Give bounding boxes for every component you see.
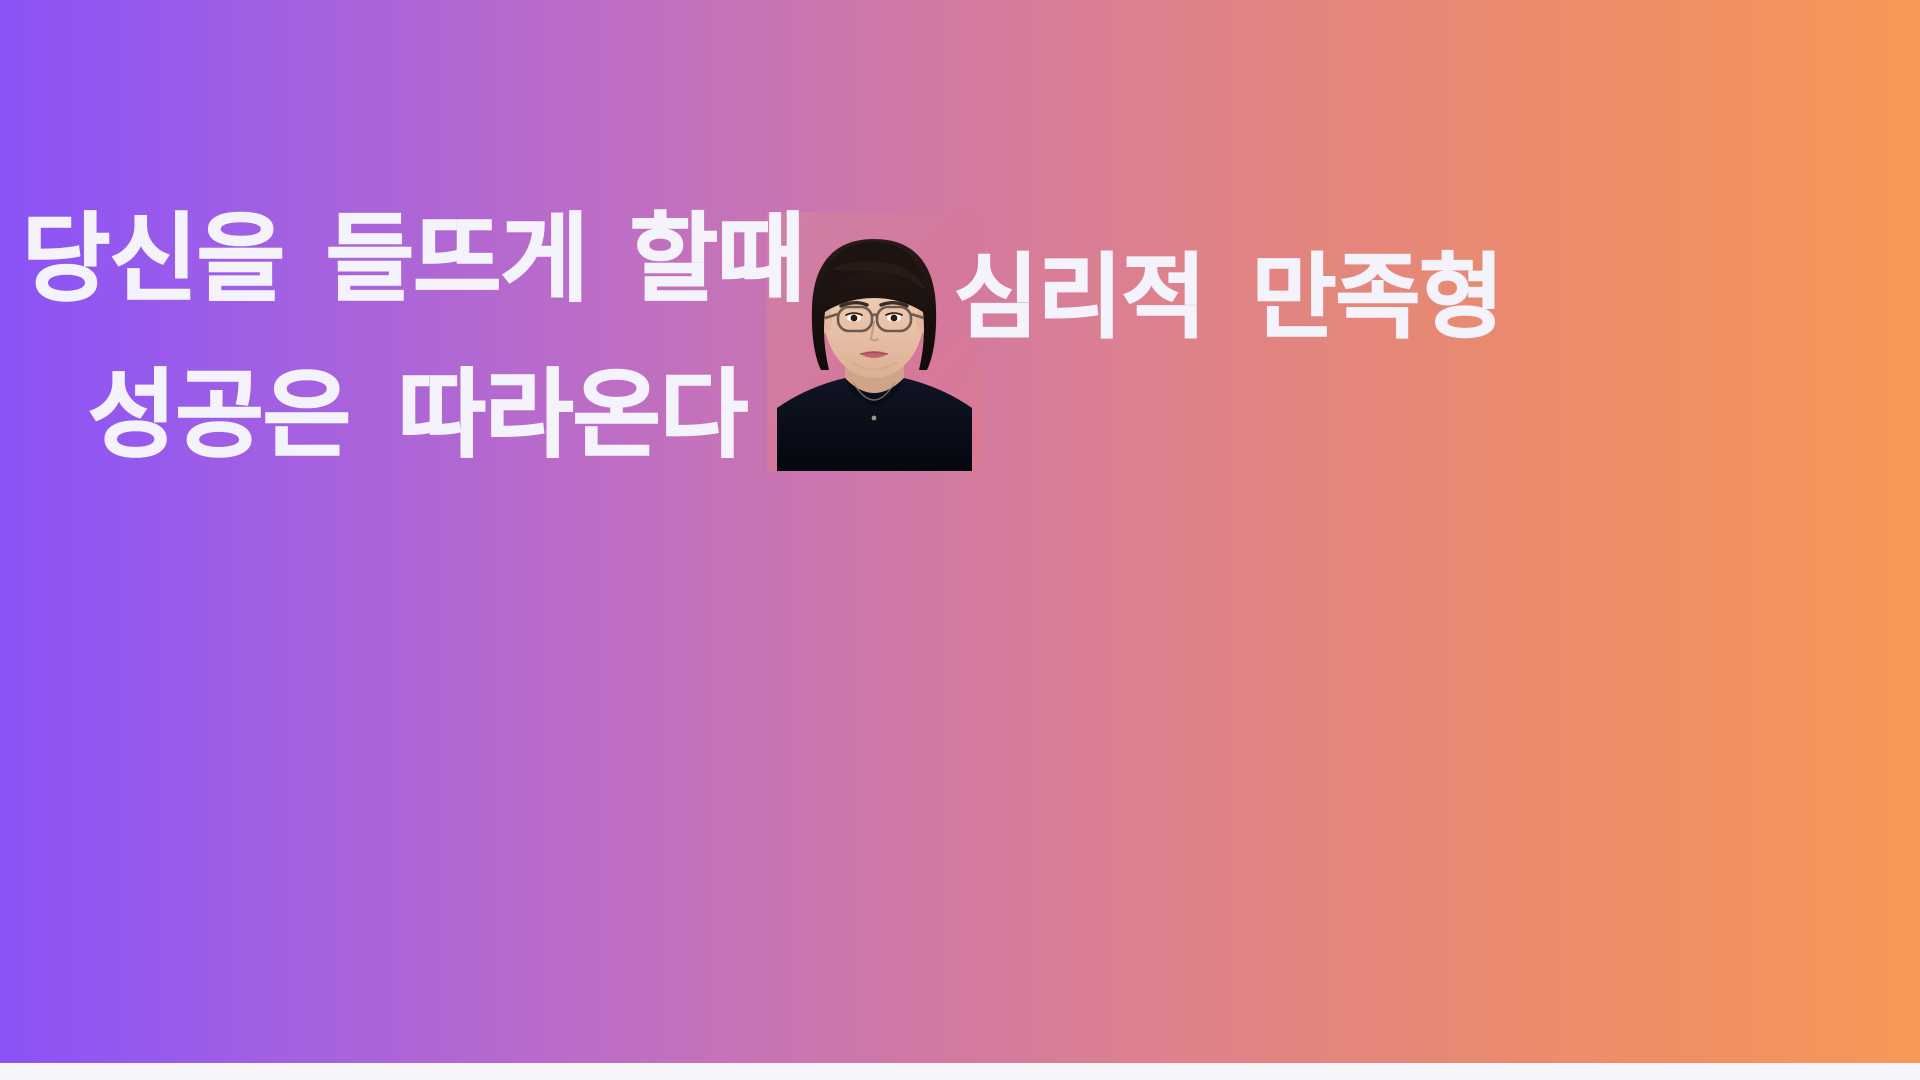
slide-canvas: 당신을 들뜨게 할때 성공은 따라온다 심리적 만족형 xyxy=(0,0,1920,1080)
gradient-background xyxy=(0,0,1920,1063)
headline-left-line1: 당신을 들뜨게 할때 xyxy=(22,212,804,308)
bottom-strip xyxy=(0,1063,1920,1080)
headline-left-line2: 성공은 따라온다 xyxy=(88,368,747,464)
headline-right: 심리적 만족형 xyxy=(954,252,1503,344)
